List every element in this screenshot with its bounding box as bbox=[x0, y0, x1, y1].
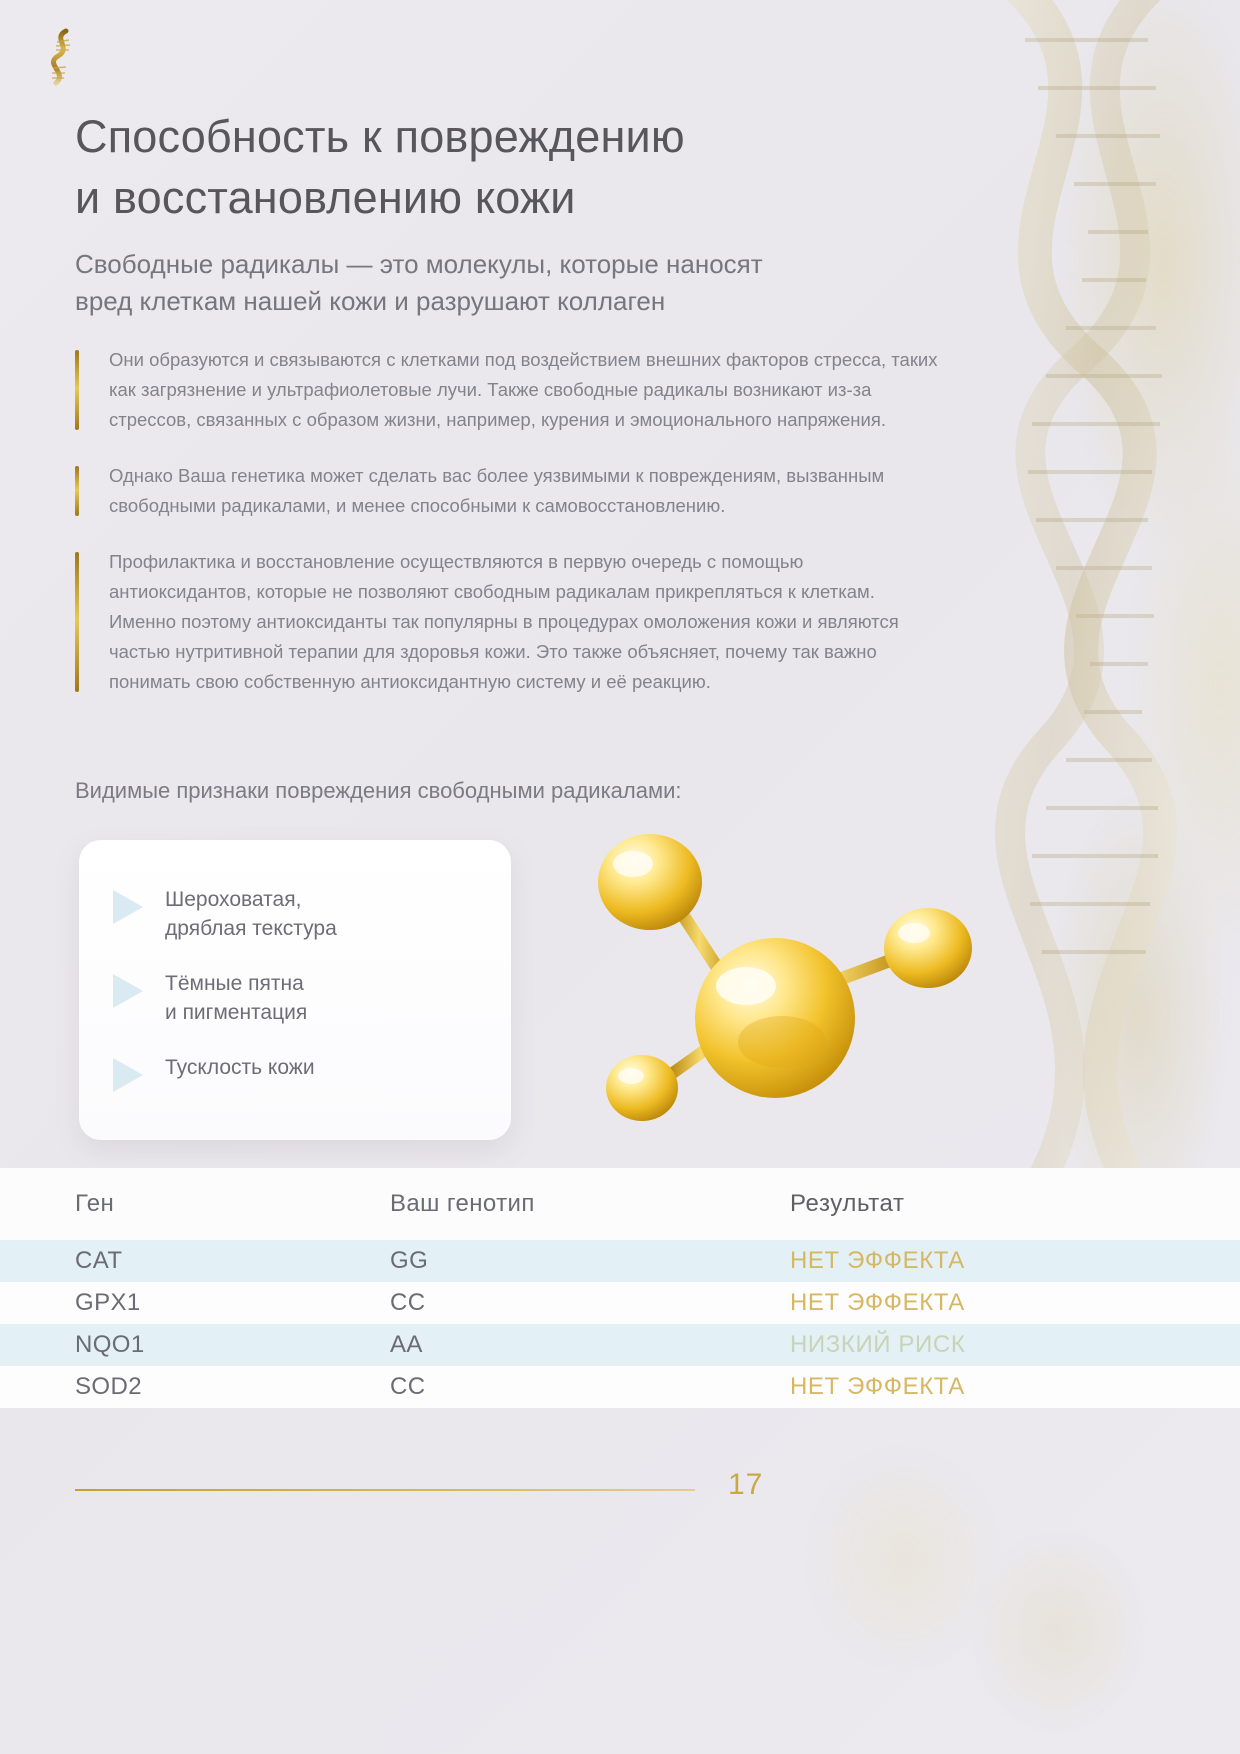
column-header-gene: Ген bbox=[75, 1190, 390, 1218]
cell-result: НЕТ ЭФФЕКТА bbox=[790, 1373, 1165, 1401]
paragraph-text: Профилактика и восстановление осуществля… bbox=[109, 547, 945, 697]
paragraph-blocks: Они образуются и связываются с клетками … bbox=[75, 345, 945, 723]
cell-genotype: CC bbox=[390, 1373, 790, 1401]
cell-genotype: GG bbox=[390, 1247, 790, 1275]
sign-item: Шероховатая, дряблая текстура bbox=[113, 886, 481, 944]
table-header-row: Ген Ваш генотип Результат bbox=[0, 1168, 1240, 1240]
table-row: SOD2 CC НЕТ ЭФФЕКТА bbox=[0, 1366, 1240, 1408]
paragraph-text: Они образуются и связываются с клетками … bbox=[109, 345, 945, 435]
signs-heading: Видимые признаки повреждения свободными … bbox=[75, 778, 682, 804]
sign-label: Тёмные пятна и пигментация bbox=[165, 970, 307, 1028]
cell-gene: NQO1 bbox=[75, 1331, 390, 1359]
report-page: Способность к повреждению и восстановлен… bbox=[0, 0, 1240, 1754]
cell-genotype: AA bbox=[390, 1331, 790, 1359]
page-subtitle: Свободные радикалы — это молекулы, котор… bbox=[75, 246, 945, 320]
sign-label: Тусклость кожи bbox=[165, 1054, 315, 1083]
genotype-results-table: Ген Ваш генотип Результат CAT GG НЕТ ЭФФ… bbox=[0, 1168, 1240, 1408]
triangle-bullet-icon bbox=[113, 974, 143, 1008]
dna-logo-icon bbox=[42, 28, 82, 86]
gold-accent-bar bbox=[75, 466, 79, 516]
paragraph-block: Они образуются и связываются с клетками … bbox=[75, 345, 945, 435]
gold-accent-bar bbox=[75, 552, 79, 692]
paragraph-block: Однако Ваша генетика может сделать вас б… bbox=[75, 461, 945, 521]
cell-gene: SOD2 bbox=[75, 1373, 390, 1401]
sign-item: Тёмные пятна и пигментация bbox=[113, 970, 481, 1028]
footer-background-art bbox=[760, 1430, 1240, 1754]
cell-result: НЕТ ЭФФЕКТА bbox=[790, 1247, 1165, 1275]
gold-accent-bar bbox=[75, 350, 79, 430]
cell-genotype: CC bbox=[390, 1289, 790, 1317]
table-row: NQO1 AA НИЗКИЙ РИСК bbox=[0, 1324, 1240, 1366]
column-header-genotype: Ваш генотип bbox=[390, 1190, 790, 1218]
cell-gene: GPX1 bbox=[75, 1289, 390, 1317]
dna-background-art bbox=[940, 0, 1240, 1180]
triangle-bullet-icon bbox=[113, 1058, 143, 1092]
footer-divider bbox=[75, 1489, 695, 1491]
table-row: CAT GG НЕТ ЭФФЕКТА bbox=[0, 1240, 1240, 1282]
paragraph-block: Профилактика и восстановление осуществля… bbox=[75, 547, 945, 697]
sign-label: Шероховатая, дряблая текстура bbox=[165, 886, 337, 944]
cell-gene: CAT bbox=[75, 1247, 390, 1275]
triangle-bullet-icon bbox=[113, 890, 143, 924]
column-header-result: Результат bbox=[790, 1190, 1165, 1218]
cell-result: НИЗКИЙ РИСК bbox=[790, 1331, 1165, 1359]
table-row: GPX1 CC НЕТ ЭФФЕКТА bbox=[0, 1282, 1240, 1324]
visible-signs-card: Шероховатая, дряблая текстура Тёмные пят… bbox=[79, 840, 511, 1140]
page-number: 17 bbox=[728, 1468, 763, 1502]
page-title: Способность к повреждению и восстановлен… bbox=[75, 106, 955, 228]
cell-result: НЕТ ЭФФЕКТА bbox=[790, 1289, 1165, 1317]
sign-item: Тусклость кожи bbox=[113, 1054, 481, 1092]
paragraph-text: Однако Ваша генетика может сделать вас б… bbox=[109, 461, 945, 521]
